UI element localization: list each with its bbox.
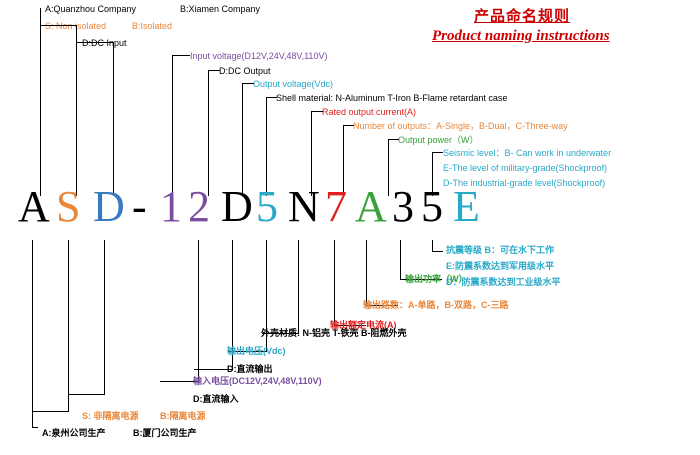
top-label-0-b: B:Xiamen Company <box>180 4 260 15</box>
code-char-0: A <box>18 185 50 229</box>
bottom-line-S <box>68 240 69 412</box>
bottom-label-4: 输出路数：A-单路，B-双路，C-三路 <box>363 300 509 311</box>
top-label-11: E-The level of military-grade(Shockproof… <box>443 163 607 174</box>
bottom-label-1: E:防震系数达到军用级水平 <box>446 261 554 272</box>
bottom-line-A0 <box>32 240 33 428</box>
code-char-7: 5 <box>256 185 278 229</box>
bottom-label-11-a: S: 非隔离电源 <box>82 411 139 422</box>
top-label-10: Seismic level：B- Can work in underwater <box>443 148 611 159</box>
bottom-label-12-a: A:泉州公司生产 <box>42 428 106 439</box>
leader-line-1v <box>76 25 77 196</box>
top-label-9: Output power（W） <box>398 135 479 146</box>
leader-line-0 <box>40 8 41 196</box>
bottom-label-11-b: B:隔离电源 <box>160 411 206 422</box>
leader-hbar-6 <box>266 97 277 98</box>
bottom-line-D1 <box>104 240 105 395</box>
code-char-6: D <box>221 185 253 229</box>
top-label-3: Input voltage(D12V,24V,48V,110V) <box>190 51 327 62</box>
bottom-hbar-S <box>33 411 69 412</box>
top-label-8: Number of outputs：A-Single，B-Dual，C-Thre… <box>353 121 568 132</box>
leader-hbar-9 <box>388 139 399 140</box>
bottom-line-12 <box>198 240 199 382</box>
title-chinese: 产品命名规则 <box>474 5 570 26</box>
bottom-hbar-A0 <box>32 427 38 428</box>
code-char-8: N <box>288 185 320 229</box>
naming-rule-diagram: 产品命名规则 Product naming instructions A:Qua… <box>0 0 700 455</box>
leader-line-5v <box>242 83 243 196</box>
leader-hbar-7 <box>311 111 323 112</box>
top-label-1-b: B:Isolated <box>132 21 172 32</box>
top-label-7: Rated output current(A) <box>322 107 416 118</box>
code-char-1: S <box>56 185 80 229</box>
code-char-4: 1 <box>160 185 182 229</box>
bottom-label-7: D:直流输出 <box>227 364 273 375</box>
leader-hbar-2 <box>77 42 114 43</box>
top-label-6: Shell material: N-Aluminum T-Iron B-Flam… <box>276 93 507 104</box>
bottom-label-0: 抗震等级 B：可在水下工作 <box>446 245 554 256</box>
bottom-label-3: 输出功率（W） <box>405 274 468 285</box>
bottom-label-10: D:直流输入 <box>193 394 239 405</box>
top-label-2: D:DC Input <box>82 38 127 49</box>
bottom-label-9: 输入电压(DC12V,24V,48V,110V) <box>193 376 322 387</box>
bottom-label-8: 输出电压(Vdc) <box>227 346 286 357</box>
code-char-5: 2 <box>188 185 210 229</box>
leader-hbar-8 <box>343 125 354 126</box>
code-char-10: A <box>355 185 387 229</box>
bottom-line-A <box>366 240 367 306</box>
bottom-hbar-E <box>432 251 443 252</box>
leader-line-4v <box>208 70 209 196</box>
bottom-label-6: 外壳材质: N-铝壳 T-铁壳 B-阻燃外壳 <box>261 328 407 339</box>
product-code: A S D - 1 2 D 5 N 7 A 3 5 E <box>0 185 700 241</box>
code-char-13: E <box>453 185 480 229</box>
top-label-4: D:DC Output <box>219 66 271 77</box>
bottom-label-12-b: B:厦门公司生产 <box>133 428 197 439</box>
top-label-5: Output voltage(Vdc) <box>253 79 333 90</box>
code-char-9: 7 <box>325 185 347 229</box>
code-char-12: 5 <box>421 185 443 229</box>
bottom-line-N <box>298 240 299 334</box>
bottom-line-35 <box>400 240 401 280</box>
leader-line-2v <box>113 42 114 196</box>
title-english: Product naming instructions <box>432 28 610 45</box>
top-label-0-a: A:Quanzhou Company <box>45 4 136 15</box>
bottom-hbar-D1 <box>69 394 105 395</box>
leader-line-3v <box>172 55 173 196</box>
bottom-line-7 <box>334 240 335 326</box>
code-char-11: 3 <box>392 185 414 229</box>
leader-hbar-5 <box>242 83 254 84</box>
code-char-2: D <box>93 185 125 229</box>
leader-hbar-3 <box>172 55 190 56</box>
leader-hbar-10 <box>432 152 443 153</box>
leader-hbar-1 <box>40 25 77 26</box>
code-char-3: - <box>132 185 147 229</box>
leader-hbar-4 <box>208 70 220 71</box>
